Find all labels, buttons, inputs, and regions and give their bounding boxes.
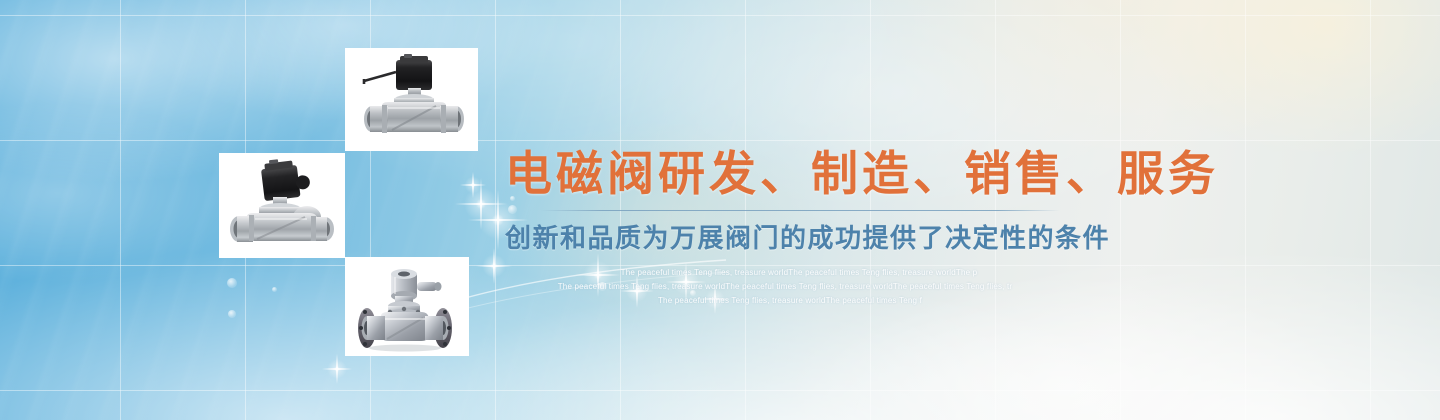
flanged-solenoid-valve-render xyxy=(351,262,463,352)
solenoid-valve-photo xyxy=(225,159,339,253)
promotional-banner: 电磁阀研发、制造、销售、服务 创新和品质为万展阀门的成功提供了决定性的条件 Th… xyxy=(0,0,1440,420)
flange-left xyxy=(358,308,385,348)
body-text-line: The peaceful times Teng flies, treasure … xyxy=(505,280,1065,294)
banner-headline: 电磁阀研发、制造、销售、服务 xyxy=(505,148,1105,200)
product-tile-threaded-solenoid-valve-top[interactable] xyxy=(345,48,478,151)
banner-subheadline: 创新和品质为万展阀门的成功提供了决定性的条件 xyxy=(505,223,1105,254)
product-tile-flanged-solenoid-valve-bottom[interactable] xyxy=(345,257,469,356)
solenoid-valve-photo xyxy=(352,54,472,146)
product-tile-threaded-solenoid-valve-middle[interactable] xyxy=(219,153,345,258)
banner-body-text: The peaceful times Teng flies, treasure … xyxy=(505,266,1065,308)
flange-right xyxy=(425,308,452,348)
body-text-line: The peaceful times Teng flies, treasure … xyxy=(505,294,1065,308)
headline-divider xyxy=(540,210,1060,211)
body-text-line: The peaceful times Teng flies, treasure … xyxy=(505,266,1065,280)
banner-text-block: 电磁阀研发、制造、销售、服务 创新和品质为万展阀门的成功提供了决定性的条件 Th… xyxy=(505,148,1105,308)
